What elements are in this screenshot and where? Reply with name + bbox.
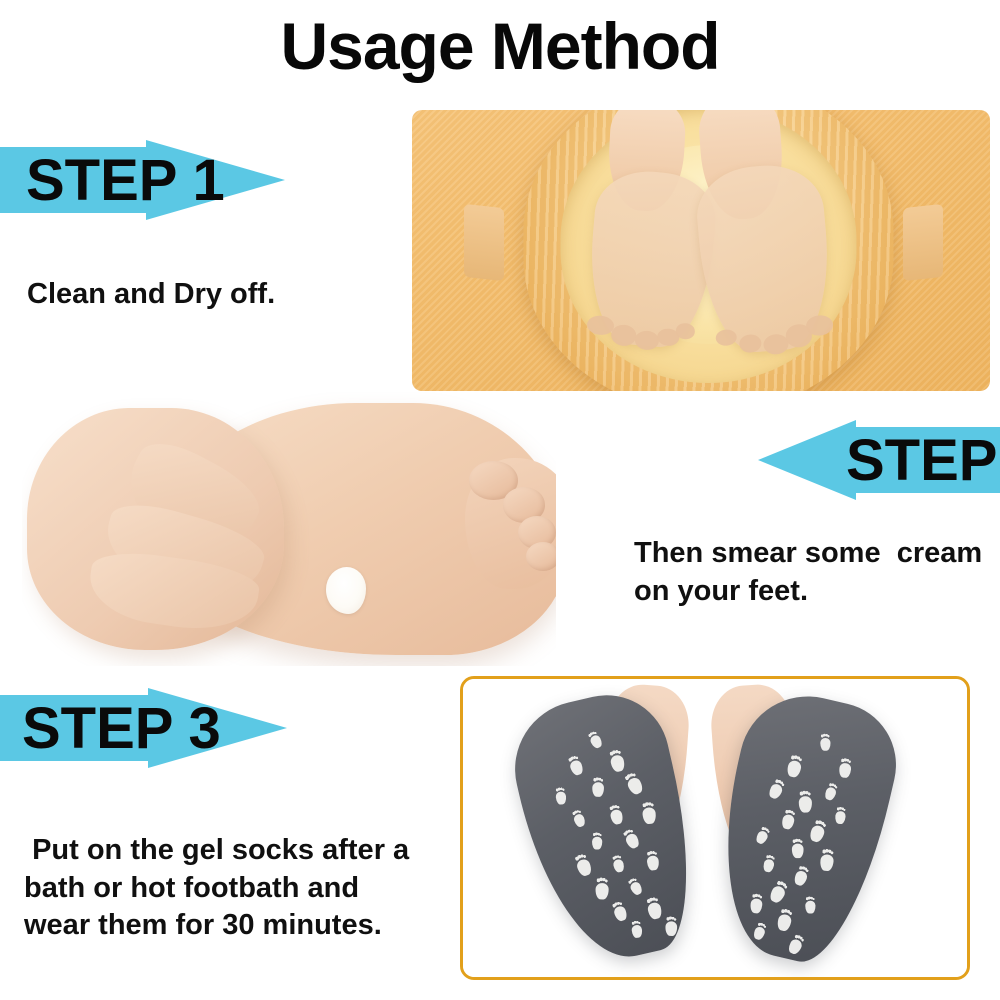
footprint-grip-icon <box>755 829 770 845</box>
gel-socks-photo-frame <box>460 676 970 980</box>
footprint-grip-icon <box>572 813 586 828</box>
footprint-grip-icon <box>629 880 644 896</box>
footprint-grip-icon <box>626 776 645 797</box>
footprint-grip-icon <box>768 783 785 801</box>
footprint-grip-icon <box>555 791 566 805</box>
step-2-caption: Then smear some cream on your feet. <box>634 535 1000 610</box>
footprint-grip-icon <box>623 832 640 850</box>
footprint-grip-icon <box>823 786 837 801</box>
footprint-grip-icon <box>793 869 809 887</box>
footprint-grip-icon <box>776 913 792 932</box>
footprint-grip-icon <box>799 796 812 813</box>
footprint-grip-icon <box>768 884 787 905</box>
footprint-grip-icon <box>839 762 852 778</box>
step-1-caption: Clean and Dry off. <box>27 276 427 314</box>
footprint-grip-icon <box>762 858 775 873</box>
footprint-grip-icon <box>786 938 803 956</box>
step-1-label: STEP 1 <box>26 152 225 210</box>
page-title: Usage Method <box>0 12 1000 81</box>
footprint-grip-icon <box>835 811 846 825</box>
hand-applying-cream <box>27 408 283 649</box>
footprint-grip-icon <box>575 858 593 878</box>
footprint-grip-icon <box>609 809 624 826</box>
footprint-grip-icon <box>809 824 827 844</box>
footprint-grip-icon <box>750 898 763 914</box>
feet-in-wooden-footbath-photo <box>412 110 990 391</box>
footprint-grip-icon <box>609 754 625 773</box>
foot-toes <box>465 458 556 589</box>
footprint-grip-icon <box>589 733 604 749</box>
footprint-grip-icon <box>595 882 608 899</box>
footprint-grip-icon <box>641 806 656 824</box>
toe <box>526 542 556 571</box>
footprint-grip-icon <box>646 855 659 871</box>
footprint-grip-icon <box>805 901 815 914</box>
footprint-grip-icon <box>792 843 804 858</box>
cream-on-heel-photo <box>22 392 556 666</box>
footprint-grip-icon <box>592 782 604 797</box>
tub-handle-left <box>464 203 504 280</box>
footprint-grip-icon <box>820 854 835 872</box>
footprint-grip-icon <box>612 905 628 923</box>
footprint-grip-icon <box>781 813 796 830</box>
footprint-grip-icon <box>568 758 584 776</box>
tub-handle-right <box>903 203 943 280</box>
footprint-grip-icon <box>646 901 662 920</box>
step-3-label: STEP 3 <box>22 700 221 758</box>
step-3-caption: Put on the gel socks after a bath or hot… <box>24 832 454 945</box>
gray-gel-socks-photo <box>463 679 967 977</box>
footprint-grip-icon <box>820 737 830 750</box>
footprint-grip-icon <box>612 858 625 873</box>
white-cream-blob <box>326 567 366 614</box>
footprint-grip-icon <box>786 760 802 779</box>
footprint-grip-icon <box>592 837 602 850</box>
step-2-label: STEP 2 <box>846 432 1000 490</box>
footprint-grip-icon <box>631 924 642 938</box>
footprint-grip-icon <box>752 925 766 940</box>
footprint-grip-icon <box>665 921 677 936</box>
